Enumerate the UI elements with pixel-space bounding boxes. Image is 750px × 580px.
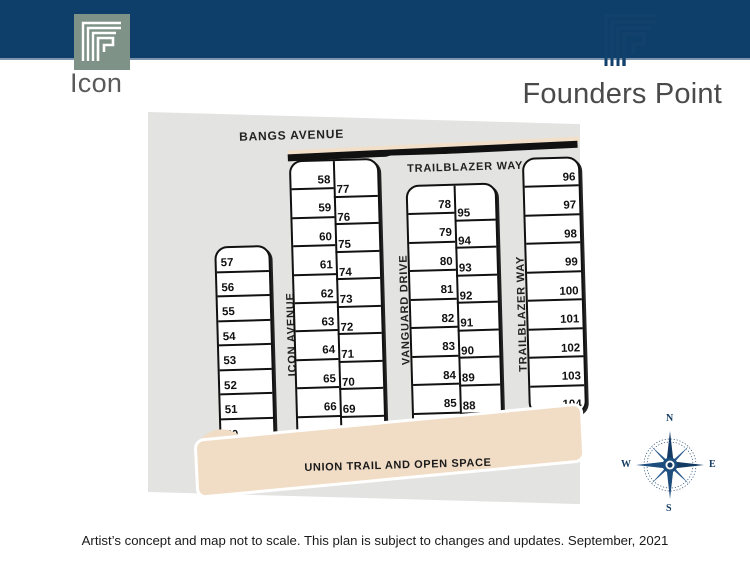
compass-rose: N S E W (620, 415, 720, 515)
lot-57[interactable]: 57 (216, 247, 269, 273)
lot-90[interactable]: 90 (458, 330, 500, 359)
lot-102[interactable]: 102 (529, 329, 584, 359)
lot-77[interactable]: 77 (333, 169, 378, 198)
vanguard-block-right: 95 94 93 92 91 90 89 88 87 (454, 193, 502, 440)
lot-91[interactable]: 91 (457, 303, 499, 332)
lot-number: 94 (458, 236, 471, 248)
lot-number: 88 (463, 401, 476, 413)
lot-number: 75 (338, 240, 351, 252)
compass-label-east: E (709, 459, 716, 470)
icon-logo-label: Icon (70, 68, 122, 99)
lot-93[interactable]: 93 (455, 248, 497, 277)
lot-number: 98 (564, 229, 577, 241)
block-west: 57 56 55 54 53 52 51 50 (214, 245, 276, 444)
lot-number: 77 (337, 185, 350, 197)
lot-81[interactable]: 81 (410, 271, 457, 301)
lot-89[interactable]: 89 (458, 358, 500, 387)
vanguard-block-left: 78 79 80 81 82 83 84 85 86 (408, 186, 461, 441)
lot-number: 55 (222, 307, 235, 319)
lot-number: 69 (343, 405, 356, 417)
lot-number: 51 (225, 405, 238, 417)
compass-rose-icon (620, 415, 720, 515)
lot-71[interactable]: 71 (338, 334, 383, 363)
lot-number: 90 (461, 346, 474, 358)
lot-74[interactable]: 74 (335, 251, 380, 280)
lot-83[interactable]: 83 (412, 328, 459, 358)
block-east: 96 97 98 99 100 101 102 103 104 (522, 156, 587, 416)
compass-label-north: N (666, 413, 673, 424)
lot-number: 56 (221, 282, 234, 294)
lot-62[interactable]: 62 (294, 275, 337, 305)
lot-82[interactable]: 82 (411, 299, 458, 329)
lot-number: 60 (319, 232, 332, 244)
lot-73[interactable]: 73 (336, 279, 381, 308)
lot-94[interactable]: 94 (455, 220, 497, 249)
lot-number: 97 (563, 201, 576, 213)
founders-point-brand-glyph (600, 10, 662, 72)
lot-70[interactable]: 70 (338, 361, 383, 390)
lot-number: 76 (337, 212, 350, 224)
lot-61[interactable]: 61 (293, 246, 336, 276)
lot-56[interactable]: 56 (217, 271, 270, 297)
lot-66[interactable]: 66 (297, 388, 340, 418)
lot-96[interactable]: 96 (524, 158, 579, 188)
lot-number: 92 (460, 291, 473, 303)
lot-55[interactable]: 55 (218, 296, 271, 322)
lot-59[interactable]: 59 (292, 190, 335, 220)
lot-100[interactable]: 100 (527, 272, 582, 302)
lot-63[interactable]: 63 (295, 303, 338, 333)
footer-disclaimer: Artist’s concept and map not to scale. T… (0, 533, 750, 548)
lot-85[interactable]: 85 (413, 385, 460, 415)
lot-76[interactable]: 76 (334, 196, 379, 225)
lot-79[interactable]: 79 (408, 214, 455, 244)
lot-54[interactable]: 54 (218, 320, 271, 346)
lot-number: 103 (562, 371, 582, 383)
lot-number: 101 (560, 314, 580, 326)
east-column: 96 97 98 99 100 101 102 103 104 (524, 158, 585, 413)
lot-number: 65 (323, 374, 336, 386)
lot-number: 78 (438, 200, 451, 212)
lot-number: 96 (562, 172, 575, 184)
lot-number: 66 (324, 402, 337, 414)
icon-block-right: 77 76 75 74 73 72 71 70 69 68 (333, 169, 385, 443)
lot-number: 62 (321, 289, 334, 301)
lot-number: 102 (561, 343, 581, 355)
lot-number: 91 (460, 319, 473, 331)
lot-78[interactable]: 78 (408, 186, 455, 216)
lot-number: 82 (441, 313, 454, 325)
lot-98[interactable]: 98 (525, 215, 580, 245)
lot-number: 70 (342, 377, 355, 389)
lot-number: 79 (439, 228, 452, 240)
lot-number: 59 (318, 203, 331, 215)
lot-58[interactable]: 58 (291, 161, 334, 191)
lot-number: 63 (321, 317, 334, 329)
block-vanguard: 78 79 80 81 82 83 84 85 86 95 94 93 92 9… (406, 183, 504, 443)
lot-number: 84 (443, 370, 456, 382)
lot-number: 53 (223, 356, 236, 368)
icon-logo (74, 14, 130, 70)
lot-number: 80 (440, 257, 453, 269)
lot-53[interactable]: 53 (219, 345, 272, 371)
lot-97[interactable]: 97 (525, 187, 580, 217)
lot-64[interactable]: 64 (296, 331, 339, 361)
block-icon-avenue: 58 59 60 61 62 63 64 65 66 67 77 76 75 7… (289, 158, 387, 446)
compass-label-south: S (666, 503, 672, 514)
lot-number: 85 (444, 399, 457, 411)
icon-brand-glyph (74, 14, 130, 70)
lot-84[interactable]: 84 (412, 356, 459, 386)
lot-72[interactable]: 72 (337, 306, 382, 335)
lot-number: 99 (565, 258, 578, 270)
lot-number: 83 (442, 342, 455, 354)
lot-number: 57 (221, 258, 234, 270)
lot-80[interactable]: 80 (409, 243, 456, 273)
lot-number: 54 (223, 331, 236, 343)
lot-103[interactable]: 103 (529, 357, 584, 387)
lot-101[interactable]: 101 (528, 300, 583, 330)
lot-92[interactable]: 92 (456, 275, 498, 304)
lot-number: 73 (340, 295, 353, 307)
lot-number: 71 (341, 350, 354, 362)
lot-number: 64 (322, 345, 335, 357)
lot-99[interactable]: 99 (526, 244, 581, 274)
compass-label-west: W (621, 459, 631, 470)
lot-number: 72 (340, 322, 353, 334)
west-column: 57 56 55 54 53 52 51 50 (216, 247, 273, 442)
lot-60[interactable]: 60 (292, 218, 335, 248)
lot-number: 74 (339, 267, 352, 279)
lot-65[interactable]: 65 (296, 360, 339, 390)
lot-number: 81 (441, 285, 454, 297)
lot-number: 95 (457, 208, 470, 220)
lot-75[interactable]: 75 (335, 224, 380, 253)
lot-number: 58 (317, 175, 330, 187)
road-label-bangs-avenue: BANGS AVENUE (239, 127, 344, 144)
lot-number: 52 (224, 380, 237, 392)
founders-point-logo (600, 10, 662, 72)
lot-number: 61 (320, 260, 333, 272)
lot-number: 100 (559, 286, 579, 298)
lot-number: 93 (459, 263, 472, 275)
lot-51[interactable]: 51 (220, 394, 273, 420)
lot-number: 89 (462, 374, 475, 386)
lot-69[interactable]: 69 (339, 389, 384, 418)
lot-95[interactable]: 95 (454, 193, 496, 222)
lot-52[interactable]: 52 (220, 369, 273, 395)
